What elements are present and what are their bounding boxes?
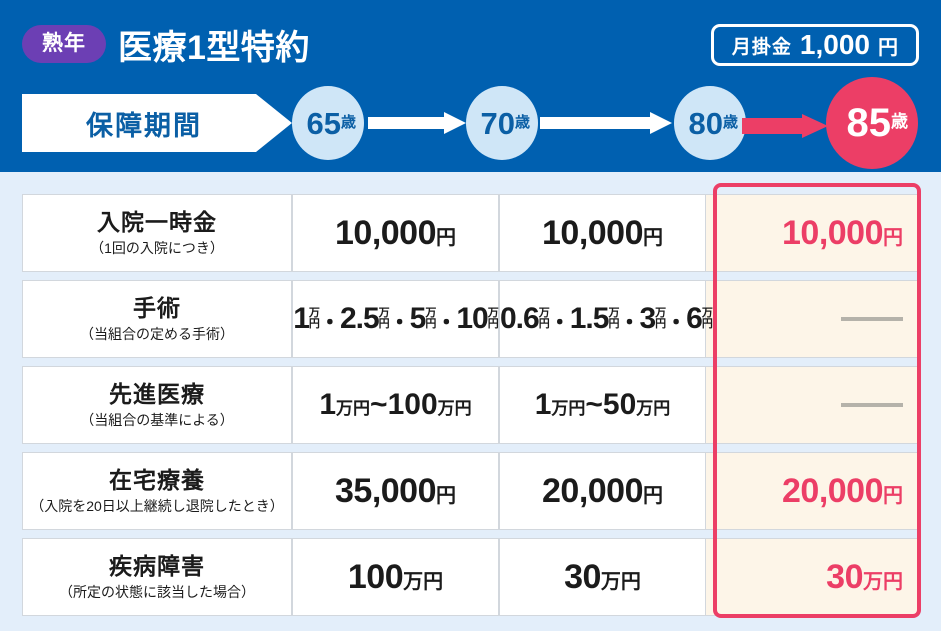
monthly-premium-unit: 円 (878, 31, 898, 60)
value-unit: 万円 (601, 571, 641, 593)
timeline-node-65: 65 歳 (292, 86, 364, 160)
timeline-node-85: 85 歳 (826, 77, 918, 169)
value-unit: 円 (436, 485, 456, 507)
row-value-cell-70: 1万円~50万円 (499, 366, 706, 444)
row-label-cell: 疾病障害 （所定の状態に該当した場合） (22, 538, 292, 616)
row-value-cell-85: 10,000円 (706, 194, 919, 272)
value-range-from: 1 (319, 388, 336, 421)
timeline-arrow-80-85-icon (742, 114, 830, 136)
value-not-applicable-dash (841, 403, 903, 407)
value-amount: 1 (293, 302, 309, 335)
value-unit: 円 (643, 485, 663, 507)
value-separator: ・ (665, 309, 686, 334)
table-row: 手術 （当組合の定める手術） 1万円・2.5万円・5万円・10万円 0.6万円・… (22, 280, 919, 358)
row-value-cell-65: 10,000円 (292, 194, 499, 272)
table-row: 先進医療 （当組合の基準による） 1万円~100万円 1万円~50万円 (22, 366, 919, 444)
row-value-cell-65: 1万円・2.5万円・5万円・10万円 (292, 280, 499, 358)
value-separator: ・ (549, 309, 570, 334)
value-separator: ・ (319, 309, 340, 334)
value-separator: ・ (618, 309, 639, 334)
header-top-row: 熟年 医療1型特約 月掛金 1,000 円 (0, 12, 941, 74)
value-unit: 円 (643, 227, 663, 249)
monthly-premium-label: 月掛金 (732, 32, 792, 59)
row-value-cell-70: 0.6万円・1.5万円・3万円・6万円 (499, 280, 706, 358)
table-row: 入院一時金 （1回の入院につき） 10,000円 10,000円 10,000円 (22, 194, 919, 272)
row-value-cell-65: 1万円~100万円 (292, 366, 499, 444)
timeline-node-65-suffix: 歳 (341, 115, 364, 132)
value-amount: 10,000 (335, 214, 436, 252)
value-not-applicable-dash (841, 317, 903, 321)
timeline-node-65-age: 65 (307, 108, 341, 139)
row-value-cell-65: 100万円 (292, 538, 499, 616)
timeline-arrow-70-80-icon (540, 112, 674, 134)
value-unit-stack: 万円 (309, 308, 319, 330)
row-label-sub: （所定の状態に該当した場合） (23, 583, 291, 601)
value-amount: 0.6 (500, 302, 539, 335)
value-amount: 100 (348, 558, 403, 596)
row-label-main: 入院一時金 (23, 209, 291, 237)
benefit-table: 入院一時金 （1回の入院につき） 10,000円 10,000円 10,000円… (22, 186, 919, 624)
row-label-cell: 手術 （当組合の定める手術） (22, 280, 292, 358)
row-label-sub: （当組合の基準による） (23, 411, 291, 429)
value-range-to-unit: 万円 (636, 399, 670, 418)
value-range-separator: ~ (370, 388, 388, 421)
row-label-cell: 入院一時金 （1回の入院につき） (22, 194, 292, 272)
value-amount: 10,000 (782, 214, 883, 252)
value-amount: 6 (686, 302, 702, 335)
table-row: 在宅療養 （入院を20日以上継続し退院したとき） 35,000円 20,000円… (22, 452, 919, 530)
value-amount: 10 (456, 302, 487, 335)
value-range-from-unit: 万円 (551, 399, 585, 418)
value-amount: 1.5 (570, 302, 609, 335)
timeline-node-70: 70 歳 (466, 86, 538, 160)
timeline-node-80: 80 歳 (674, 86, 746, 160)
value-range-to: 50 (603, 388, 636, 421)
value-unit: 円 (436, 227, 456, 249)
timeline-node-70-suffix: 歳 (515, 115, 538, 132)
value-amount: 20,000 (542, 472, 643, 510)
value-amount: 10,000 (542, 214, 643, 252)
value-range-separator: ~ (585, 388, 603, 421)
monthly-premium-amount: 1,000 (800, 29, 870, 61)
timeline-node-85-age: 85 (847, 103, 892, 143)
value-unit: 円 (883, 227, 903, 249)
value-unit-stack: 万円 (488, 308, 498, 330)
table-row: 疾病障害 （所定の状態に該当した場合） 100万円 30万円 30万円 (22, 538, 919, 616)
coverage-period-banner: 保障期間 (22, 94, 292, 152)
row-value-cell-85 (706, 366, 919, 444)
value-unit: 万円 (863, 571, 903, 593)
timeline-node-80-age: 80 (689, 108, 723, 139)
value-amount: 30 (564, 558, 601, 596)
value-unit-stack: 万円 (379, 308, 389, 330)
row-label-sub: （1回の入院につき） (23, 239, 291, 257)
row-label-main: 在宅療養 (23, 467, 291, 495)
value-unit: 万円 (403, 571, 443, 593)
value-range-to: 100 (388, 388, 438, 421)
row-value-cell-65: 35,000円 (292, 452, 499, 530)
value-surgery-list: 1万円・2.5万円・5万円・10万円 (293, 304, 498, 334)
timeline-node-70-age: 70 (481, 108, 515, 139)
page-title: 医療1型特約 (118, 20, 310, 69)
row-label-sub: （当組合の定める手術） (23, 325, 291, 343)
value-surgery-list: 0.6万円・1.5万円・3万円・6万円 (500, 304, 712, 334)
value-amount: 3 (639, 302, 655, 335)
row-label-main: 先進医療 (23, 381, 291, 409)
value-range-from-unit: 万円 (336, 399, 370, 418)
row-value-cell-70: 30万円 (499, 538, 706, 616)
value-amount: 30 (826, 558, 863, 596)
row-label-cell: 在宅療養 （入院を20日以上継続し退院したとき） (22, 452, 292, 530)
value-amount: 20,000 (782, 472, 883, 510)
monthly-premium-box: 月掛金 1,000 円 (711, 24, 919, 66)
coverage-timeline: 保障期間 65 歳 70 歳 80 歳 85 歳 (0, 86, 941, 162)
value-unit-stack: 万円 (655, 308, 665, 330)
value-unit-stack: 万円 (702, 308, 712, 330)
value-unit-stack: 万円 (425, 308, 435, 330)
row-label-cell: 先進医療 （当組合の基準による） (22, 366, 292, 444)
value-range-to-unit: 万円 (438, 399, 472, 418)
value-amount: 5 (410, 302, 426, 335)
value-amount: 35,000 (335, 472, 436, 510)
row-value-cell-85: 30万円 (706, 538, 919, 616)
row-value-cell-70: 10,000円 (499, 194, 706, 272)
row-value-cell-70: 20,000円 (499, 452, 706, 530)
benefit-table-area: 入院一時金 （1回の入院につき） 10,000円 10,000円 10,000円… (0, 180, 941, 631)
value-range-from: 1 (535, 388, 552, 421)
row-label-sub: （入院を20日以上継続し退院したとき） (23, 497, 291, 515)
value-unit-stack: 万円 (608, 308, 618, 330)
value-amount: 2.5 (340, 302, 379, 335)
value-separator: ・ (435, 309, 456, 334)
row-value-cell-85 (706, 280, 919, 358)
timeline-arrow-65-70-icon (368, 112, 466, 134)
plan-category-badge: 熟年 (22, 25, 106, 63)
timeline-node-85-suffix: 歳 (891, 113, 918, 134)
value-unit-stack: 万円 (539, 308, 549, 330)
plan-header: 熟年 医療1型特約 月掛金 1,000 円 保障期間 65 歳 70 歳 80 … (0, 0, 941, 172)
row-label-main: 手術 (23, 295, 291, 323)
value-unit: 円 (883, 485, 903, 507)
row-label-main: 疾病障害 (23, 553, 291, 581)
value-separator: ・ (389, 309, 410, 334)
row-value-cell-85: 20,000円 (706, 452, 919, 530)
